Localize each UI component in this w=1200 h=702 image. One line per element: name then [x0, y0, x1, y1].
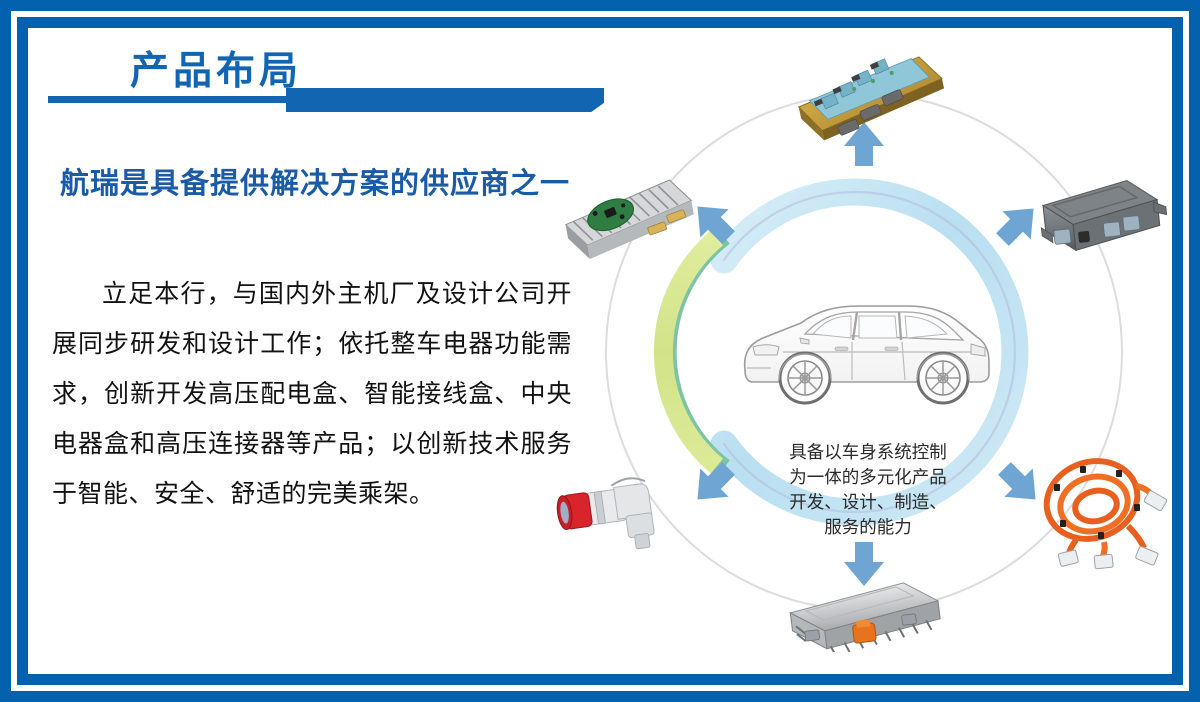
center-vehicle-illustration	[745, 306, 989, 403]
diagram-svg	[548, 52, 1188, 652]
product-high-voltage-harness	[1037, 450, 1168, 569]
product-high-voltage-power-box	[788, 579, 943, 652]
subtitle: 航瑞是具备提供解决方案的供应商之一	[60, 160, 570, 202]
product-control-enclosure	[1037, 177, 1169, 254]
product-layout-diagram: 具备以车身系统控制 为一体的多元化产品 开发、设计、制造、 服务的能力	[548, 52, 1188, 652]
product-smart-junction-box	[793, 52, 950, 144]
page-title: 产品布局	[130, 48, 302, 96]
product-high-voltage-connector	[554, 476, 656, 559]
title-bar	[286, 88, 604, 112]
product-central-electrical-box	[561, 177, 698, 262]
title-block: 产品布局	[38, 40, 603, 112]
body-paragraph: 立足本行，与国内外主机厂及设计公司开展同步研发和设计工作；依托整车电器功能需求，…	[52, 270, 572, 520]
arrow-lower-right	[990, 454, 1049, 513]
green-arc	[663, 235, 723, 469]
arrow-upper-right	[988, 194, 1047, 253]
text-column: 产品布局 航瑞是具备提供解决方案的供应商之一 立足本行，与国内外主机厂及设计公司…	[38, 40, 603, 640]
slide-canvas: 产品布局 航瑞是具备提供解决方案的供应商之一 立足本行，与国内外主机厂及设计公司…	[0, 0, 1200, 702]
arrow-bottom	[844, 542, 884, 586]
